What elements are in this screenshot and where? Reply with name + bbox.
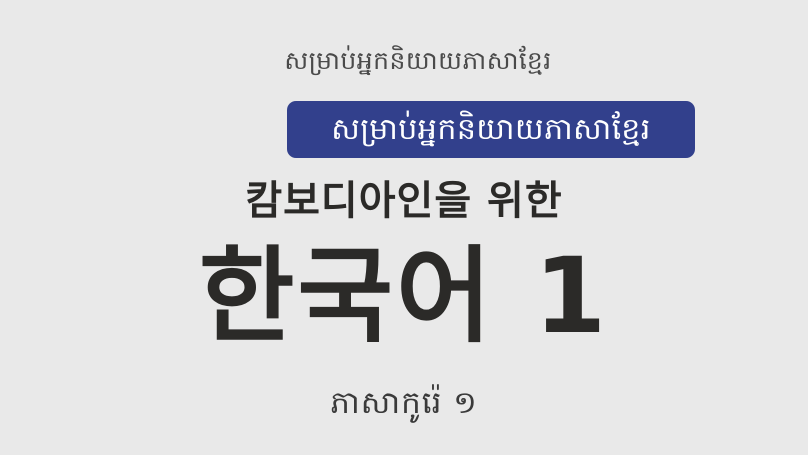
korean-subtitle: 캄보디아인을 위한 [0,176,808,226]
book-cover: សម្រាប់អ្នកនិយាយភាសាខ្មែរ សម្រាប់អ្នកនិយ… [0,0,808,455]
khmer-banner-label: សម្រាប់អ្នកនិយាយភាសាខ្មែរ [331,110,651,150]
khmer-title-banner: សម្រាប់អ្នកនិយាយភាសាខ្មែរ [287,101,695,158]
khmer-subtitle: ភាសាកូរ៉េ ១ [0,381,808,425]
khmer-audience-line: សម្រាប់អ្នកនិយាយភាសាខ្មែរ [0,44,808,78]
korean-main-title: 한국어 1 [0,233,808,359]
